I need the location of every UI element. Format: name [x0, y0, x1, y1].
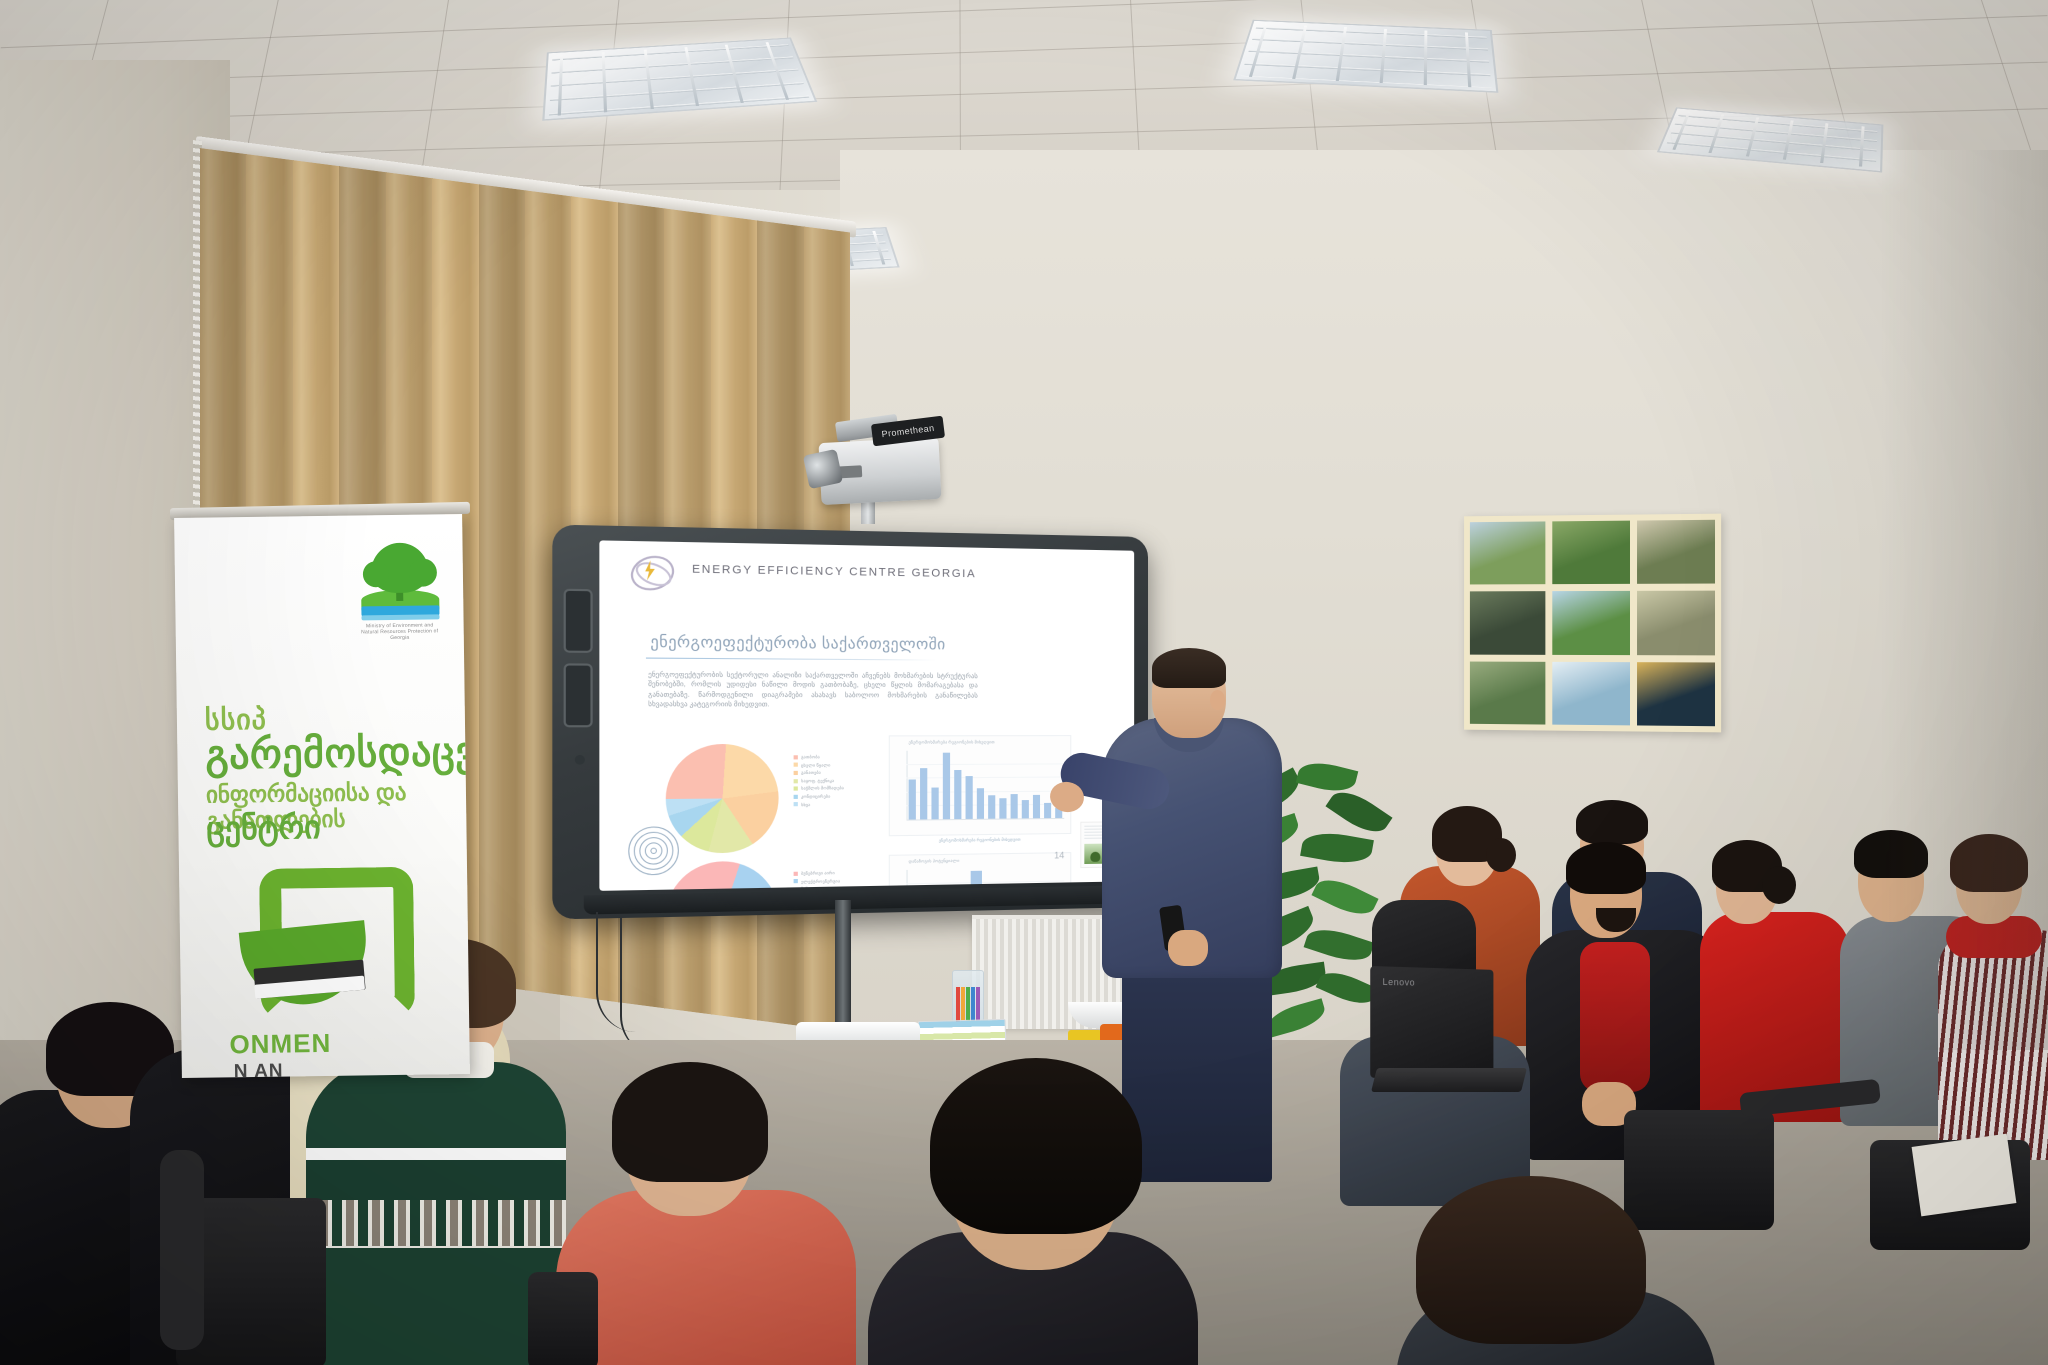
pie-2-legend: ბუნებრივი აირიელექტროენერგიაშეშაცენტრალუ… [794, 870, 850, 891]
bar [1000, 798, 1006, 819]
presenter-ear [1210, 690, 1225, 710]
photo-alpine-meadow-rocks [1553, 521, 1630, 585]
bar [955, 770, 961, 819]
pie-2-graphic [666, 861, 779, 891]
pie-chart-2: ბუნებრივი აირიელექტროენერგიაშეშაცენტრალუ… [659, 855, 863, 891]
chair[interactable] [528, 1272, 598, 1365]
presentation-slide: ENERGY EFFICIENCY CENTRE GEORGIA ენერგოე… [599, 540, 1134, 890]
nordic-pattern-band [306, 1200, 566, 1246]
presenter-hand [1168, 930, 1208, 966]
bar-1-caption: ენერგომოხმარება რეგიონების მიხედვით [889, 836, 1070, 843]
slide-title-rule [646, 658, 937, 661]
bar [1011, 794, 1017, 819]
legend-item: საყოფ. ტექნიკა [794, 778, 844, 785]
laptop-lid[interactable]: Lenovo [1370, 966, 1493, 1078]
pie-chart-1: გათბობაცხელი წყალიგანათებასაყოფ. ტექნიკა… [659, 742, 863, 859]
slide-title: ენერგოეფექტურობა საქართველოში [650, 632, 945, 653]
light-louvers [549, 41, 810, 116]
interactive-whiteboard[interactable]: ENERGY EFFICIENCY CENTRE GEORGIA ენერგოე… [552, 525, 1148, 920]
bar [989, 795, 995, 819]
attendee-hair [612, 1062, 768, 1182]
photo-hillside-scrub [1470, 661, 1546, 724]
bar [909, 779, 915, 820]
bar-1-plot [907, 750, 1065, 820]
photo-meandering-river [1553, 591, 1630, 655]
projector-lens [803, 449, 843, 489]
fluorescent-ceiling-panel [1233, 20, 1498, 93]
legend-item: ცხელი წყალი [794, 762, 844, 769]
bar [932, 787, 938, 819]
attendee-hair-bun [1762, 866, 1796, 904]
bar-2-title: დანაზოგის პოტენციალი [909, 858, 960, 864]
slide-page-number: 14 [1054, 850, 1064, 860]
bar [920, 768, 926, 820]
seminar-room-photo: Promethean ENERGY EFFICIENCY CENTRE GEOR… [0, 0, 2048, 1365]
attendee-hair [1416, 1176, 1646, 1344]
attendee-hair [1576, 800, 1648, 844]
legend-item: განათება [794, 770, 844, 777]
legend-item: სხვა [794, 801, 844, 808]
presenter-hair [1152, 648, 1226, 688]
board-side-button[interactable] [564, 663, 593, 727]
slide-org-header: ENERGY EFFICIENCY CENTRE GEORGIA [692, 563, 976, 580]
photo-waterfall-cascade [1553, 662, 1630, 726]
presenter-trousers [1122, 962, 1272, 1182]
cable [620, 916, 676, 1056]
photo-dark-forest-canopy [1470, 591, 1546, 654]
photo-green-valley-aerial [1470, 521, 1546, 584]
bar [977, 788, 983, 819]
bar [943, 752, 949, 819]
chair-backrest[interactable] [160, 1150, 204, 1350]
blind-slat[interactable] [479, 184, 526, 990]
banner-english-bottom: N AN [234, 1061, 284, 1078]
legend-item: კონდიცირება [794, 793, 844, 800]
attendee-red-hoodie [1580, 942, 1650, 1092]
banner-line-4: ცენტრი [206, 808, 321, 848]
slide-body-text: ენერგოეფექტურობის სექტორული ანალიზი საქა… [648, 670, 978, 710]
bar [966, 776, 972, 819]
wall-shadow [1880, 150, 2048, 1050]
board-status-led [575, 755, 585, 765]
bar-1-title: ენერგომოხმარება რეგიონების მიხედვით [909, 739, 995, 744]
nature-photo-grid [1464, 514, 1721, 733]
attendee-coral-top-body [556, 1190, 856, 1365]
light-louvers [1241, 23, 1492, 88]
spiral-decoration [628, 826, 676, 873]
roll-up-banner: Ministry of Environment and Natural Reso… [174, 514, 470, 1078]
banner-english-top: ONMEN [229, 1028, 331, 1060]
pie-1-legend: გათბობაცხელი წყალიგანათებასაყოფ. ტექნიკა… [794, 754, 844, 809]
ministry-logo-caption: Ministry of Environment and Natural Reso… [358, 622, 442, 641]
ministry-logo: Ministry of Environment and Natural Reso… [356, 542, 441, 635]
pie-1-graphic [666, 744, 779, 854]
attendee-hair [930, 1058, 1142, 1234]
bar [1022, 800, 1028, 818]
banner-emblem [237, 867, 379, 1019]
photo-rocky-slope-lichen [1637, 591, 1715, 655]
banner-line-1: სსიპ [205, 703, 267, 737]
legend-item: ელექტროენერგია [794, 878, 850, 885]
legend-item: გათბობა [794, 754, 844, 761]
legend-item: საჭმლის მომზადება [794, 785, 844, 792]
bar-chart-1: ენერგომოხმარება რეგიონების მიხედვით [889, 735, 1072, 836]
banner-line-2: გარემოსდაცვითი [205, 730, 456, 777]
bar [1044, 803, 1050, 818]
bar-chart-2: დანაზოგის პოტენციალი [889, 852, 1072, 891]
photo-mountain-ridge-snow [1637, 520, 1715, 584]
energy-efficiency-centre-logo [628, 554, 674, 591]
chair[interactable] [1624, 1110, 1774, 1230]
laptop-brand-label: Lenovo [1383, 977, 1416, 988]
legend-item: ბუნებრივი აირი [794, 870, 850, 877]
board-side-button[interactable] [564, 589, 593, 653]
attendee-hair-bun [1486, 838, 1516, 872]
bar [1033, 795, 1039, 818]
notepad[interactable] [1912, 1134, 2017, 1217]
attendee-hair [1566, 842, 1646, 894]
photo-night-lights-trails [1637, 662, 1715, 726]
laptop-keyboard[interactable] [1371, 1068, 1527, 1092]
board-display-area[interactable]: ENERGY EFFICIENCY CENTRE GEORGIA ენერგოე… [599, 540, 1134, 890]
